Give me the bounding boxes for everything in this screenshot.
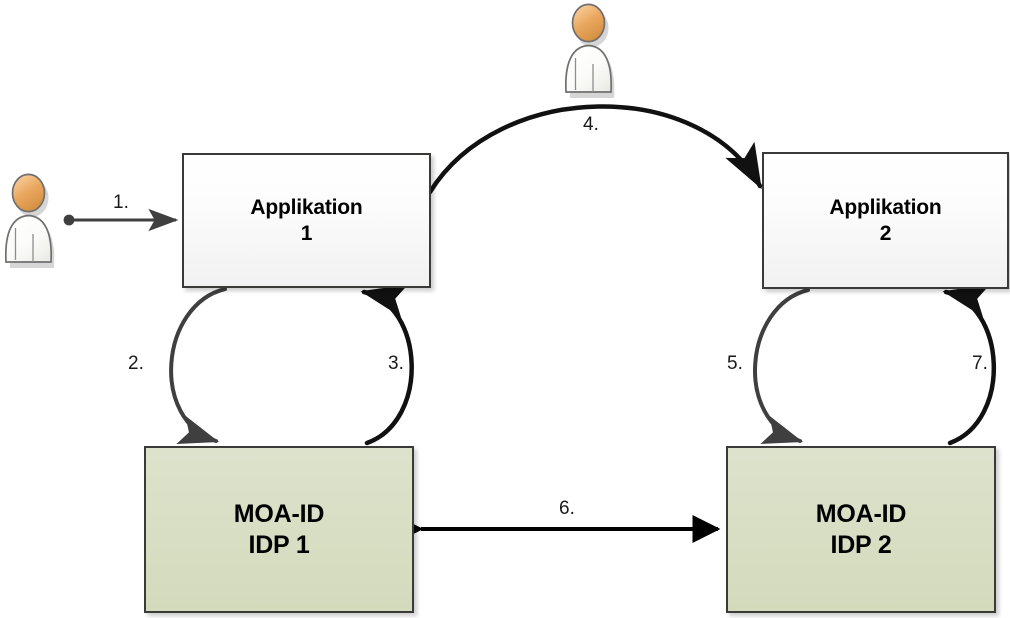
step-label-6: 6.	[559, 498, 575, 520]
node-applikation-1-line1: Applikation	[250, 195, 362, 221]
user-actor-top-icon	[562, 2, 624, 98]
node-applikation-2[interactable]: Applikation 2	[762, 152, 1009, 289]
node-moa-id-idp-1-line2: IDP 1	[248, 530, 309, 561]
node-moa-id-idp-2[interactable]: MOA-ID IDP 2	[726, 446, 996, 613]
node-applikation-1-line2: 1	[301, 221, 312, 247]
node-moa-id-idp-1-line1: MOA-ID	[234, 499, 324, 530]
connector-step-5	[755, 290, 808, 441]
node-moa-id-idp-2-line1: MOA-ID	[816, 499, 906, 530]
step-label-7: 7.	[972, 353, 988, 375]
step-label-2: 2.	[128, 353, 144, 375]
node-applikation-2-line1: Applikation	[829, 195, 941, 221]
node-applikation-2-line2: 2	[880, 221, 891, 247]
step-label-4: 4.	[583, 114, 599, 136]
node-applikation-1[interactable]: Applikation 1	[182, 153, 431, 288]
node-moa-id-idp-1[interactable]: MOA-ID IDP 1	[144, 446, 414, 613]
step-label-5: 5.	[727, 353, 743, 375]
node-moa-id-idp-2-line2: IDP 2	[830, 530, 891, 561]
connector-step-2	[171, 289, 225, 441]
user-actor-left-icon	[2, 172, 64, 268]
diagram-canvas: Applikation 1 Applikation 2 MOA-ID IDP 1…	[0, 0, 1010, 618]
step-label-1: 1.	[113, 192, 129, 214]
step-label-3: 3.	[388, 353, 404, 375]
